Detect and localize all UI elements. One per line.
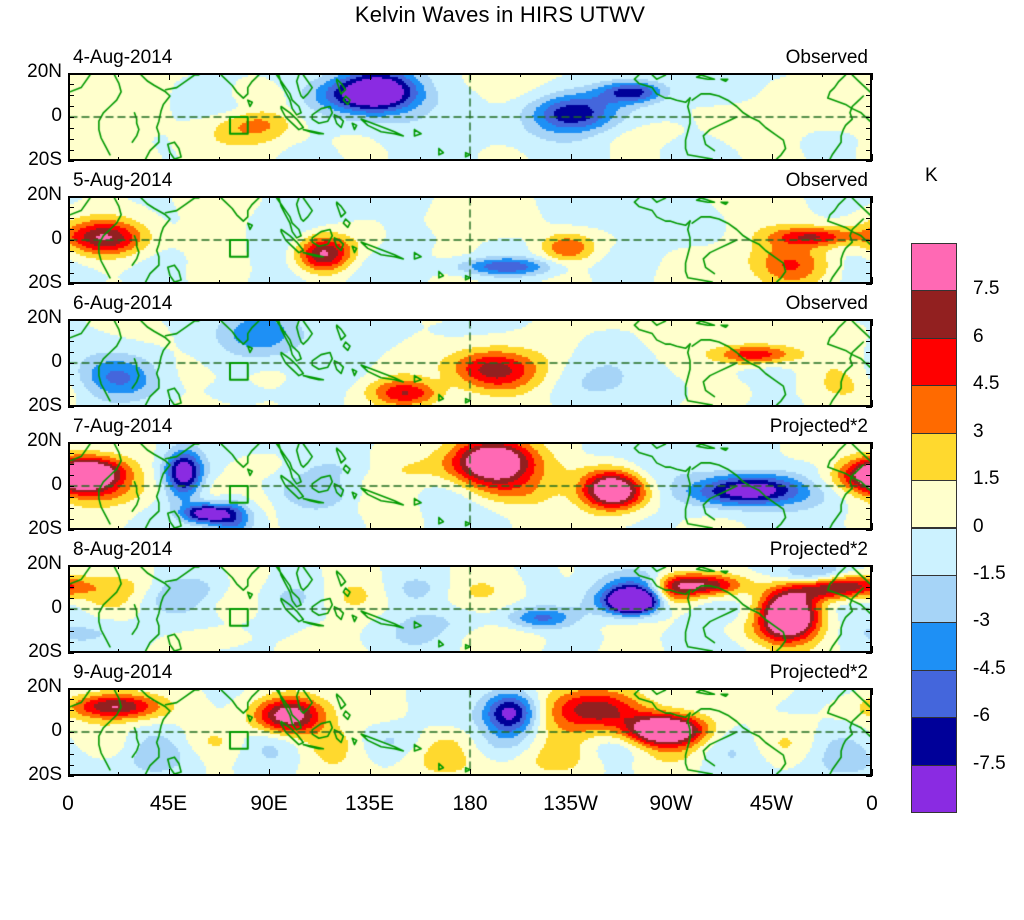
x-minor-tick bbox=[319, 649, 320, 653]
y-tick-label: 20N bbox=[6, 61, 62, 83]
x-minor-tick bbox=[621, 196, 622, 200]
x-minor-tick bbox=[269, 565, 270, 572]
x-minor-tick bbox=[370, 523, 371, 530]
x-minor-tick bbox=[118, 442, 119, 446]
x-minor-tick bbox=[872, 646, 873, 653]
x-minor-tick bbox=[721, 403, 722, 407]
x-minor-tick bbox=[219, 526, 220, 530]
x-tick-label: 90W bbox=[621, 792, 721, 816]
y-minor-tick bbox=[866, 330, 872, 331]
colorbar-unit-label: K bbox=[925, 165, 938, 187]
y-minor-tick bbox=[866, 128, 872, 129]
x-minor-tick bbox=[571, 442, 572, 449]
x-minor-tick bbox=[370, 277, 371, 284]
x-minor-tick bbox=[520, 196, 521, 200]
x-minor-tick bbox=[118, 196, 119, 200]
y-minor-tick bbox=[866, 251, 872, 252]
y-tick-label: 0 bbox=[6, 105, 62, 127]
y-minor-tick bbox=[866, 732, 872, 733]
x-minor-tick bbox=[721, 565, 722, 569]
x-minor-tick bbox=[370, 442, 371, 449]
x-minor-tick bbox=[420, 688, 421, 692]
anomaly-field-canvas bbox=[70, 198, 870, 282]
x-minor-tick bbox=[621, 688, 622, 692]
x-minor-tick bbox=[872, 565, 873, 572]
x-minor-tick bbox=[571, 400, 572, 407]
x-minor-tick bbox=[721, 157, 722, 161]
y-minor-tick bbox=[866, 631, 872, 632]
x-tick-label: 180 bbox=[420, 792, 520, 816]
colorbar-tick-label: 7.5 bbox=[973, 278, 999, 300]
y-minor-tick bbox=[68, 519, 74, 520]
x-minor-tick bbox=[470, 319, 471, 326]
y-minor-tick bbox=[866, 653, 872, 654]
y-tick-label: 20S bbox=[6, 764, 62, 786]
panel-type-label: Observed bbox=[68, 47, 868, 69]
x-minor-tick bbox=[169, 400, 170, 407]
x-minor-tick bbox=[219, 73, 220, 77]
x-minor-tick bbox=[621, 157, 622, 161]
x-minor-tick bbox=[772, 523, 773, 530]
x-minor-tick bbox=[772, 196, 773, 203]
x-minor-tick bbox=[219, 403, 220, 407]
y-minor-tick bbox=[68, 330, 74, 331]
y-minor-tick bbox=[68, 486, 74, 487]
y-minor-tick bbox=[866, 106, 872, 107]
x-minor-tick bbox=[68, 523, 69, 530]
y-minor-tick bbox=[68, 765, 74, 766]
x-minor-tick bbox=[822, 157, 823, 161]
x-minor-tick bbox=[520, 772, 521, 776]
x-minor-tick bbox=[219, 157, 220, 161]
x-minor-tick bbox=[772, 154, 773, 161]
x-minor-tick bbox=[621, 649, 622, 653]
x-minor-tick bbox=[772, 319, 773, 326]
figure-title: Kelvin Waves in HIRS UTWV bbox=[0, 2, 1000, 28]
y-minor-tick bbox=[866, 497, 872, 498]
x-minor-tick bbox=[671, 277, 672, 284]
y-minor-tick bbox=[68, 743, 74, 744]
y-minor-tick bbox=[866, 150, 872, 151]
y-minor-tick bbox=[866, 576, 872, 577]
y-minor-tick bbox=[866, 453, 872, 454]
colorbar-band bbox=[911, 670, 957, 718]
x-minor-tick bbox=[872, 523, 873, 530]
y-minor-tick bbox=[68, 128, 74, 129]
y-minor-tick bbox=[68, 721, 74, 722]
panel-type-label: Observed bbox=[68, 170, 868, 192]
x-minor-tick bbox=[822, 649, 823, 653]
y-minor-tick bbox=[68, 229, 74, 230]
x-minor-tick bbox=[571, 277, 572, 284]
x-minor-tick bbox=[621, 319, 622, 323]
x-minor-tick bbox=[319, 526, 320, 530]
x-minor-tick bbox=[370, 196, 371, 203]
x-minor-tick bbox=[822, 319, 823, 323]
y-minor-tick bbox=[68, 273, 74, 274]
x-minor-tick bbox=[571, 646, 572, 653]
x-minor-tick bbox=[319, 772, 320, 776]
panel-type-label: Observed bbox=[68, 293, 868, 315]
x-minor-tick bbox=[68, 319, 69, 326]
x-minor-tick bbox=[621, 73, 622, 77]
y-minor-tick bbox=[68, 117, 74, 118]
y-minor-tick bbox=[68, 631, 74, 632]
x-minor-tick bbox=[872, 319, 873, 326]
y-minor-tick bbox=[68, 609, 74, 610]
x-minor-tick bbox=[68, 646, 69, 653]
x-minor-tick bbox=[370, 646, 371, 653]
x-minor-tick bbox=[420, 403, 421, 407]
x-minor-tick bbox=[470, 565, 471, 572]
map-panel bbox=[68, 565, 872, 653]
y-tick-label: 0 bbox=[6, 474, 62, 496]
x-minor-tick bbox=[118, 526, 119, 530]
x-minor-tick bbox=[872, 442, 873, 449]
x-minor-tick bbox=[169, 688, 170, 695]
x-minor-tick bbox=[169, 769, 170, 776]
x-minor-tick bbox=[269, 400, 270, 407]
x-minor-tick bbox=[370, 154, 371, 161]
x-minor-tick bbox=[470, 154, 471, 161]
y-minor-tick bbox=[866, 385, 872, 386]
y-minor-tick bbox=[68, 710, 74, 711]
x-minor-tick bbox=[520, 565, 521, 569]
y-minor-tick bbox=[68, 508, 74, 509]
y-minor-tick bbox=[68, 620, 74, 621]
y-minor-tick bbox=[68, 262, 74, 263]
x-minor-tick bbox=[319, 280, 320, 284]
x-minor-tick bbox=[822, 73, 823, 77]
x-minor-tick bbox=[772, 400, 773, 407]
y-minor-tick bbox=[68, 576, 74, 577]
panel-type-label: Projected*2 bbox=[68, 662, 868, 684]
map-panel bbox=[68, 73, 872, 161]
x-minor-tick bbox=[269, 196, 270, 203]
x-minor-tick bbox=[721, 688, 722, 692]
map-plot-area bbox=[68, 73, 872, 161]
x-minor-tick bbox=[721, 772, 722, 776]
x-minor-tick bbox=[420, 319, 421, 323]
x-minor-tick bbox=[319, 565, 320, 569]
y-minor-tick bbox=[866, 229, 872, 230]
x-minor-tick bbox=[721, 526, 722, 530]
y-minor-tick bbox=[68, 497, 74, 498]
x-minor-tick bbox=[671, 400, 672, 407]
x-minor-tick bbox=[721, 196, 722, 200]
y-minor-tick bbox=[68, 385, 74, 386]
colorbar-tick-label: 0 bbox=[973, 516, 984, 538]
y-tick-label: 0 bbox=[6, 597, 62, 619]
colorbar-tick-label: 6 bbox=[973, 326, 984, 348]
x-minor-tick bbox=[319, 157, 320, 161]
x-minor-tick bbox=[621, 442, 622, 446]
x-minor-tick bbox=[470, 196, 471, 203]
map-plot-area bbox=[68, 442, 872, 530]
x-minor-tick bbox=[470, 442, 471, 449]
y-minor-tick bbox=[866, 396, 872, 397]
x-minor-tick bbox=[520, 526, 521, 530]
x-minor-tick bbox=[822, 403, 823, 407]
colorbar-band bbox=[911, 765, 957, 813]
x-minor-tick bbox=[520, 319, 521, 323]
x-minor-tick bbox=[671, 196, 672, 203]
y-minor-tick bbox=[866, 95, 872, 96]
anomaly-field-canvas bbox=[70, 321, 870, 405]
y-minor-tick bbox=[866, 363, 872, 364]
x-minor-tick bbox=[319, 319, 320, 323]
x-minor-tick bbox=[370, 73, 371, 80]
colorbar-band bbox=[911, 433, 957, 481]
x-minor-tick bbox=[319, 688, 320, 692]
y-minor-tick bbox=[68, 95, 74, 96]
x-minor-tick bbox=[721, 319, 722, 323]
x-minor-tick bbox=[621, 526, 622, 530]
x-minor-tick bbox=[219, 649, 220, 653]
x-minor-tick bbox=[470, 73, 471, 80]
x-minor-tick bbox=[520, 157, 521, 161]
y-minor-tick bbox=[866, 207, 872, 208]
x-minor-tick bbox=[772, 442, 773, 449]
x-minor-tick bbox=[571, 769, 572, 776]
x-tick-label: 45E bbox=[119, 792, 219, 816]
y-minor-tick bbox=[68, 341, 74, 342]
colorbar-band bbox=[911, 528, 957, 576]
x-minor-tick bbox=[470, 400, 471, 407]
y-tick-label: 20N bbox=[6, 553, 62, 575]
y-tick-label: 20N bbox=[6, 676, 62, 698]
y-minor-tick bbox=[68, 374, 74, 375]
x-minor-tick bbox=[118, 157, 119, 161]
x-minor-tick bbox=[822, 196, 823, 200]
x-minor-tick bbox=[772, 688, 773, 695]
x-minor-tick bbox=[118, 280, 119, 284]
x-minor-tick bbox=[621, 403, 622, 407]
panel-type-label: Projected*2 bbox=[68, 539, 868, 561]
x-minor-tick bbox=[118, 403, 119, 407]
x-minor-tick bbox=[621, 280, 622, 284]
map-plot-area bbox=[68, 196, 872, 284]
anomaly-field-canvas bbox=[70, 444, 870, 528]
y-minor-tick bbox=[68, 642, 74, 643]
y-minor-tick bbox=[866, 776, 872, 777]
x-minor-tick bbox=[319, 196, 320, 200]
y-minor-tick bbox=[68, 407, 74, 408]
y-minor-tick bbox=[68, 530, 74, 531]
x-minor-tick bbox=[219, 442, 220, 446]
x-minor-tick bbox=[822, 772, 823, 776]
y-minor-tick bbox=[866, 765, 872, 766]
x-minor-tick bbox=[872, 769, 873, 776]
x-minor-tick bbox=[68, 277, 69, 284]
y-minor-tick bbox=[866, 721, 872, 722]
x-minor-tick bbox=[571, 319, 572, 326]
x-minor-tick bbox=[420, 565, 421, 569]
x-minor-tick bbox=[470, 769, 471, 776]
x-minor-tick bbox=[671, 442, 672, 449]
y-minor-tick bbox=[866, 598, 872, 599]
x-minor-tick bbox=[470, 277, 471, 284]
y-minor-tick bbox=[68, 251, 74, 252]
x-minor-tick bbox=[872, 400, 873, 407]
x-minor-tick bbox=[219, 772, 220, 776]
x-minor-tick bbox=[520, 442, 521, 446]
y-minor-tick bbox=[866, 273, 872, 274]
x-minor-tick bbox=[571, 523, 572, 530]
y-minor-tick bbox=[866, 218, 872, 219]
x-minor-tick bbox=[420, 526, 421, 530]
x-minor-tick bbox=[269, 319, 270, 326]
x-minor-tick bbox=[169, 646, 170, 653]
y-minor-tick bbox=[866, 240, 872, 241]
x-minor-tick bbox=[68, 769, 69, 776]
x-minor-tick bbox=[169, 442, 170, 449]
x-minor-tick bbox=[420, 772, 421, 776]
map-plot-area bbox=[68, 319, 872, 407]
colorbar-tick-label: -6 bbox=[973, 705, 990, 727]
x-minor-tick bbox=[872, 154, 873, 161]
x-minor-tick bbox=[68, 196, 69, 203]
x-minor-tick bbox=[671, 523, 672, 530]
y-minor-tick bbox=[866, 352, 872, 353]
x-minor-tick bbox=[571, 73, 572, 80]
x-minor-tick bbox=[520, 403, 521, 407]
x-minor-tick bbox=[169, 154, 170, 161]
x-minor-tick bbox=[319, 442, 320, 446]
x-minor-tick bbox=[319, 403, 320, 407]
y-minor-tick bbox=[68, 653, 74, 654]
colorbar-band bbox=[911, 622, 957, 670]
x-minor-tick bbox=[822, 442, 823, 446]
x-minor-tick bbox=[370, 688, 371, 695]
x-minor-tick bbox=[370, 319, 371, 326]
x-minor-tick bbox=[671, 688, 672, 695]
x-minor-tick bbox=[219, 196, 220, 200]
x-minor-tick bbox=[420, 442, 421, 446]
x-minor-tick bbox=[420, 196, 421, 200]
y-minor-tick bbox=[866, 620, 872, 621]
x-tick-label: 135W bbox=[521, 792, 621, 816]
y-minor-tick bbox=[68, 396, 74, 397]
x-minor-tick bbox=[671, 565, 672, 572]
x-minor-tick bbox=[822, 565, 823, 569]
x-minor-tick bbox=[420, 73, 421, 77]
x-minor-tick bbox=[721, 73, 722, 77]
colorbar-tick-label: -4.5 bbox=[973, 658, 1006, 680]
x-minor-tick bbox=[772, 646, 773, 653]
y-minor-tick bbox=[68, 453, 74, 454]
y-minor-tick bbox=[866, 374, 872, 375]
colorbar-band bbox=[911, 480, 957, 528]
colorbar-tick-label: -7.5 bbox=[973, 753, 1006, 775]
x-minor-tick bbox=[420, 649, 421, 653]
x-minor-tick bbox=[219, 688, 220, 692]
y-minor-tick bbox=[866, 710, 872, 711]
map-plot-area bbox=[68, 688, 872, 776]
y-minor-tick bbox=[68, 363, 74, 364]
y-minor-tick bbox=[866, 642, 872, 643]
y-minor-tick bbox=[68, 284, 74, 285]
y-minor-tick bbox=[68, 106, 74, 107]
y-tick-label: 0 bbox=[6, 351, 62, 373]
x-minor-tick bbox=[872, 196, 873, 203]
map-panel bbox=[68, 196, 872, 284]
x-minor-tick bbox=[621, 565, 622, 569]
x-minor-tick bbox=[721, 649, 722, 653]
y-minor-tick bbox=[866, 117, 872, 118]
y-minor-tick bbox=[866, 743, 872, 744]
y-minor-tick bbox=[68, 754, 74, 755]
x-minor-tick bbox=[219, 280, 220, 284]
map-panel bbox=[68, 442, 872, 530]
y-minor-tick bbox=[866, 475, 872, 476]
map-panel bbox=[68, 319, 872, 407]
x-minor-tick bbox=[470, 646, 471, 653]
map-plot-area bbox=[68, 565, 872, 653]
x-minor-tick bbox=[118, 649, 119, 653]
x-minor-tick bbox=[169, 73, 170, 80]
colorbar-band bbox=[911, 575, 957, 623]
x-minor-tick bbox=[571, 196, 572, 203]
x-minor-tick bbox=[370, 769, 371, 776]
x-minor-tick bbox=[772, 277, 773, 284]
x-minor-tick bbox=[269, 277, 270, 284]
y-tick-label: 20N bbox=[6, 430, 62, 452]
colorbar-tick-label: 1.5 bbox=[973, 468, 999, 490]
x-minor-tick bbox=[420, 157, 421, 161]
y-minor-tick bbox=[866, 262, 872, 263]
x-minor-tick bbox=[420, 280, 421, 284]
x-minor-tick bbox=[621, 772, 622, 776]
x-minor-tick bbox=[772, 73, 773, 80]
x-minor-tick bbox=[772, 565, 773, 572]
x-minor-tick bbox=[68, 400, 69, 407]
y-minor-tick bbox=[866, 486, 872, 487]
y-tick-label: 20S bbox=[6, 149, 62, 171]
y-minor-tick bbox=[68, 464, 74, 465]
colorbar-band bbox=[911, 290, 957, 338]
x-minor-tick bbox=[721, 442, 722, 446]
x-minor-tick bbox=[671, 154, 672, 161]
anomaly-field-canvas bbox=[70, 690, 870, 774]
x-minor-tick bbox=[68, 73, 69, 80]
y-minor-tick bbox=[866, 587, 872, 588]
y-tick-label: 20S bbox=[6, 395, 62, 417]
x-minor-tick bbox=[671, 769, 672, 776]
x-minor-tick bbox=[169, 523, 170, 530]
x-minor-tick bbox=[872, 73, 873, 80]
y-minor-tick bbox=[68, 598, 74, 599]
y-minor-tick bbox=[68, 84, 74, 85]
x-minor-tick bbox=[169, 196, 170, 203]
x-minor-tick bbox=[319, 73, 320, 77]
x-minor-tick bbox=[370, 565, 371, 572]
x-minor-tick bbox=[571, 565, 572, 572]
x-tick-label: 90E bbox=[219, 792, 319, 816]
y-tick-label: 20S bbox=[6, 272, 62, 294]
y-minor-tick bbox=[866, 139, 872, 140]
x-minor-tick bbox=[571, 688, 572, 695]
y-minor-tick bbox=[68, 218, 74, 219]
colorbar bbox=[911, 243, 957, 812]
x-minor-tick bbox=[219, 565, 220, 569]
map-panel bbox=[68, 688, 872, 776]
colorbar-band bbox=[911, 243, 957, 291]
y-minor-tick bbox=[866, 464, 872, 465]
x-minor-tick bbox=[169, 565, 170, 572]
y-minor-tick bbox=[68, 587, 74, 588]
colorbar-tick-label: -3 bbox=[973, 610, 990, 632]
